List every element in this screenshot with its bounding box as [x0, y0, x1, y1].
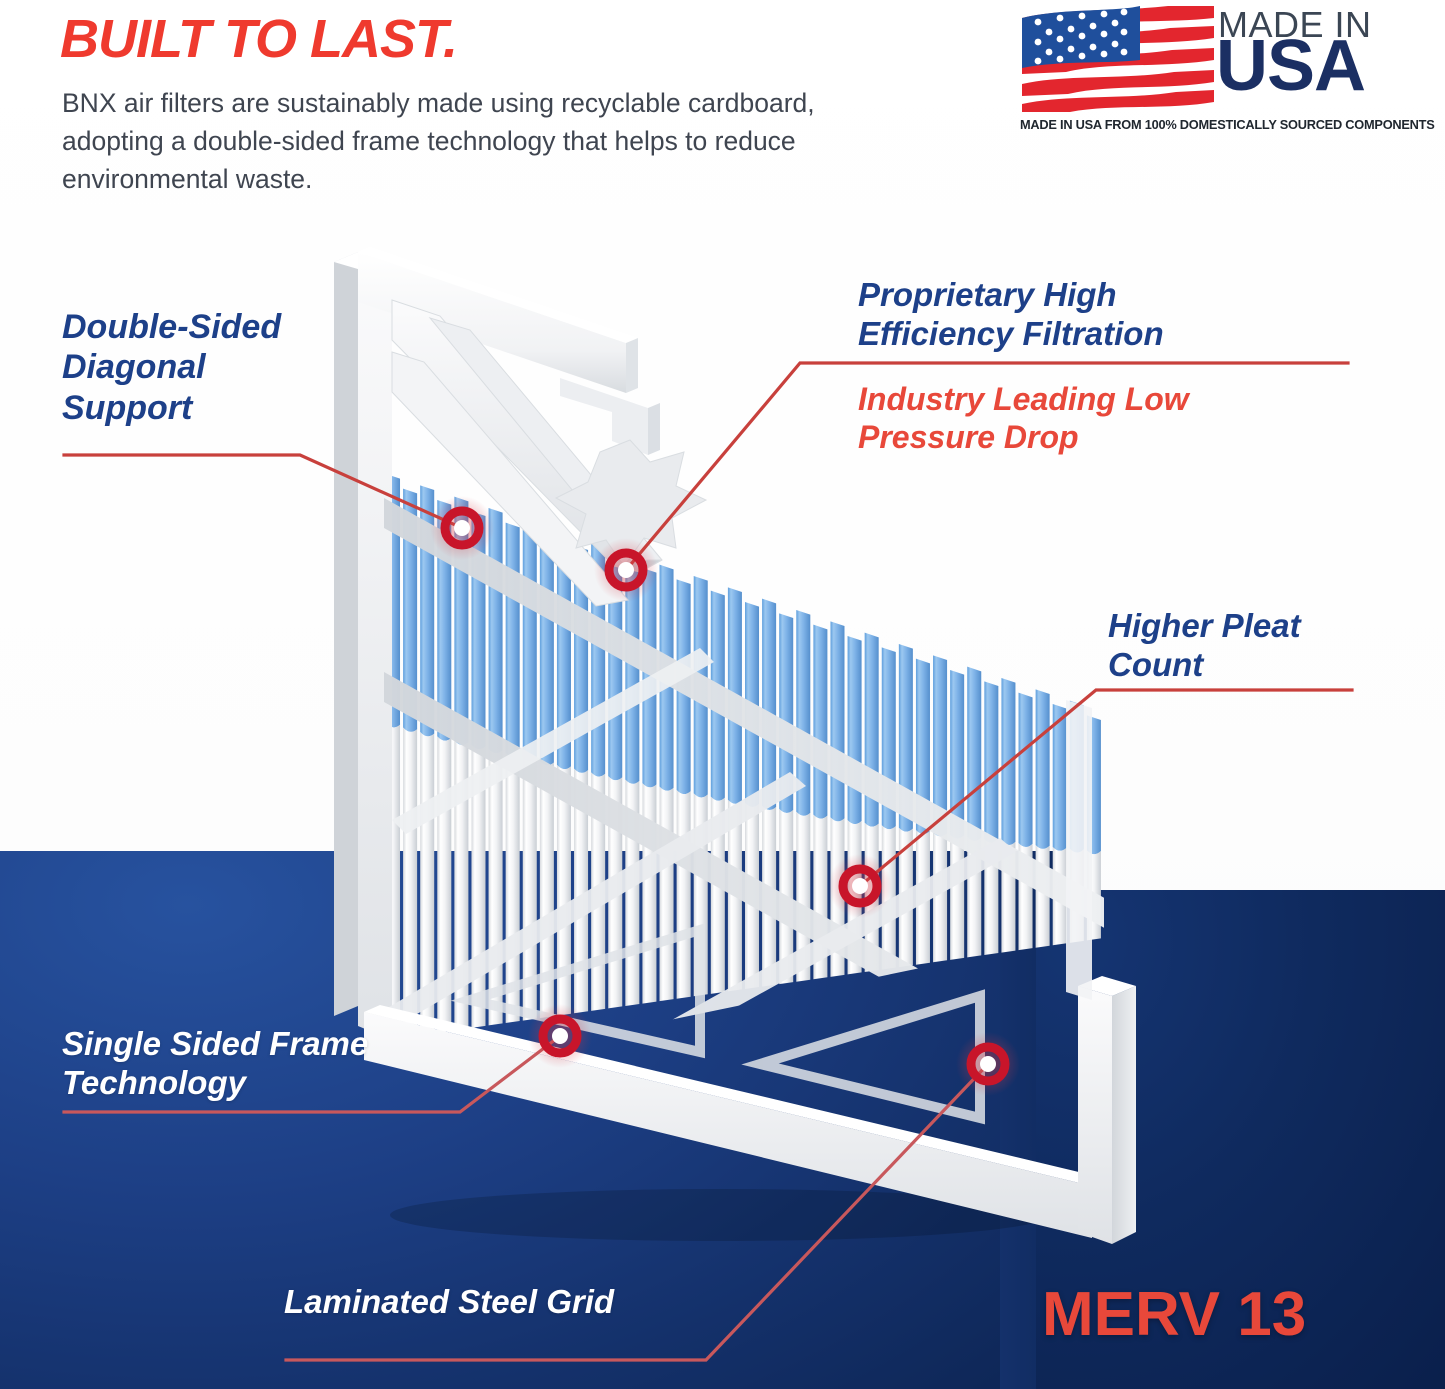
- usa-flag-icon: [1018, 6, 1216, 112]
- product-illustration: [0, 0, 1445, 1389]
- frame-left-post: [334, 252, 392, 1040]
- merv-rating-badge: MERV 13: [1042, 1279, 1306, 1350]
- intro-paragraph: BNX air filters are sustainably made usi…: [62, 84, 862, 198]
- infographic-canvas: BUILT TO LAST. BNX air filters are susta…: [0, 0, 1445, 1389]
- callout-laminated-steel-grid: Laminated Steel Grid: [284, 1283, 614, 1322]
- badge-tagline: MADE IN USA FROM 100% DOMESTICALLY SOURC…: [1020, 117, 1420, 132]
- callout-double-sided-diagonal-support: Double-SidedDiagonalSupport: [62, 307, 281, 428]
- callout-proprietary-high-efficiency-filtration: Proprietary HighEfficiency Filtration: [858, 276, 1164, 353]
- page-title: BUILT TO LAST.: [60, 8, 457, 70]
- badge-usa-label: USA: [1216, 32, 1365, 100]
- callout-higher-pleat-count: Higher PleatCount: [1108, 607, 1301, 684]
- made-in-usa-badge: MADE IN USA MADE IN USA FROM 100% DOMEST…: [1010, 4, 1430, 136]
- callout-industry-leading-low-pressure-drop: Industry Leading LowPressure Drop: [858, 381, 1189, 457]
- callout-single-sided-frame-technology: Single Sided FrameTechnology: [62, 1025, 368, 1102]
